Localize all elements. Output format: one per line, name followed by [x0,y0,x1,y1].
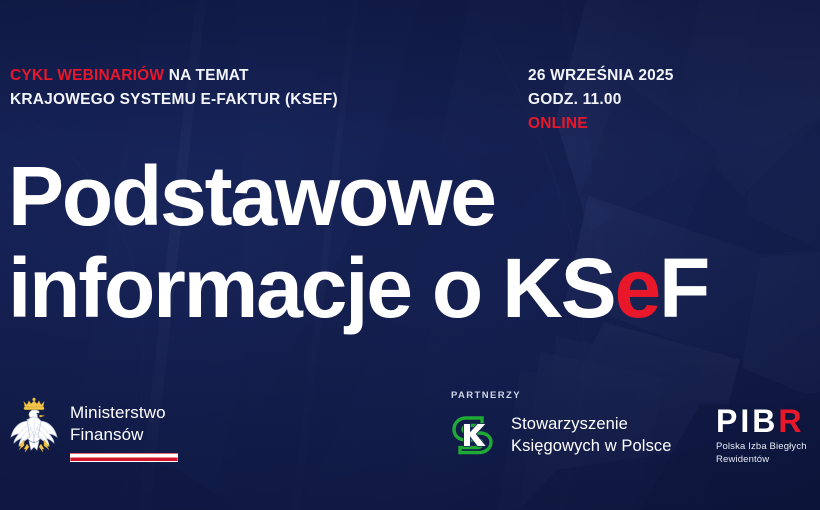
pibr-sub-line-2: Rewidentów [716,454,807,467]
event-mode-badge: ONLINE [528,112,674,136]
kicker-highlight: CYKL WEBINARIÓW [10,67,164,84]
webinar-banner: CYKL WEBINARIÓW NA TEMAT KRAJOWEGO SYSTE… [0,0,820,510]
pibr-sub-line-1: Polska Izba Biegłych [716,441,807,454]
title-line-2-after: F [659,241,708,335]
event-time: GODZ. 11.00 [528,91,622,108]
skwp-logo-mark [448,412,500,458]
event-datetime-block: 26 WRZEŚNIA 2025 GODZ. 11.00 ONLINE [528,64,674,136]
page-title: Podstawowe informacje o KSeF [8,150,814,334]
event-date: 26 WRZEŚNIA 2025 [528,67,674,84]
title-accent-letter: e [614,241,659,335]
skwp-text-block: Stowarzyszenie Księgowych w Polsce [511,413,672,457]
ministry-of-finance-logo: Ministerstwo Finansów [8,396,178,462]
skwp-logo: Stowarzyszenie Księgowych w Polsce [448,412,672,458]
partners-block: PARTNERZY Stowarzyszenie Księgowych w Po… [448,390,672,458]
title-line-1: Podstawowe [8,149,495,243]
ministry-line-1: Ministerstwo [70,402,178,424]
event-series-kicker: CYKL WEBINARIÓW NA TEMAT KRAJOWEGO SYSTE… [10,64,530,112]
ministry-text-block: Ministerstwo Finansów [70,396,178,462]
pibr-word-accent: R [778,403,804,439]
polish-eagle-emblem [8,396,60,462]
ministry-line-2: Finansów [70,424,178,446]
skwp-line-2: Księgowych w Polsce [511,435,672,457]
partners-label: PARTNERZY [451,390,672,401]
polish-flag-bar [70,453,178,462]
skwp-line-1: Stowarzyszenie [511,413,672,435]
pibr-word-main: PIB [716,403,778,439]
kicker-line2: KRAJOWEGO SYSTEMU E-FAKTUR (KSEF) [10,88,530,112]
title-line-2-before: informacje o KS [8,241,614,335]
kicker-rest: NA TEMAT [164,67,248,84]
pibr-logo: PIBR Polska Izba Biegłych Rewidentów [716,404,807,466]
pibr-subtitle: Polska Izba Biegłych Rewidentów [716,441,807,466]
title-line-2: informacje o KSeF [8,242,814,334]
pibr-wordmark: PIBR [716,404,807,438]
